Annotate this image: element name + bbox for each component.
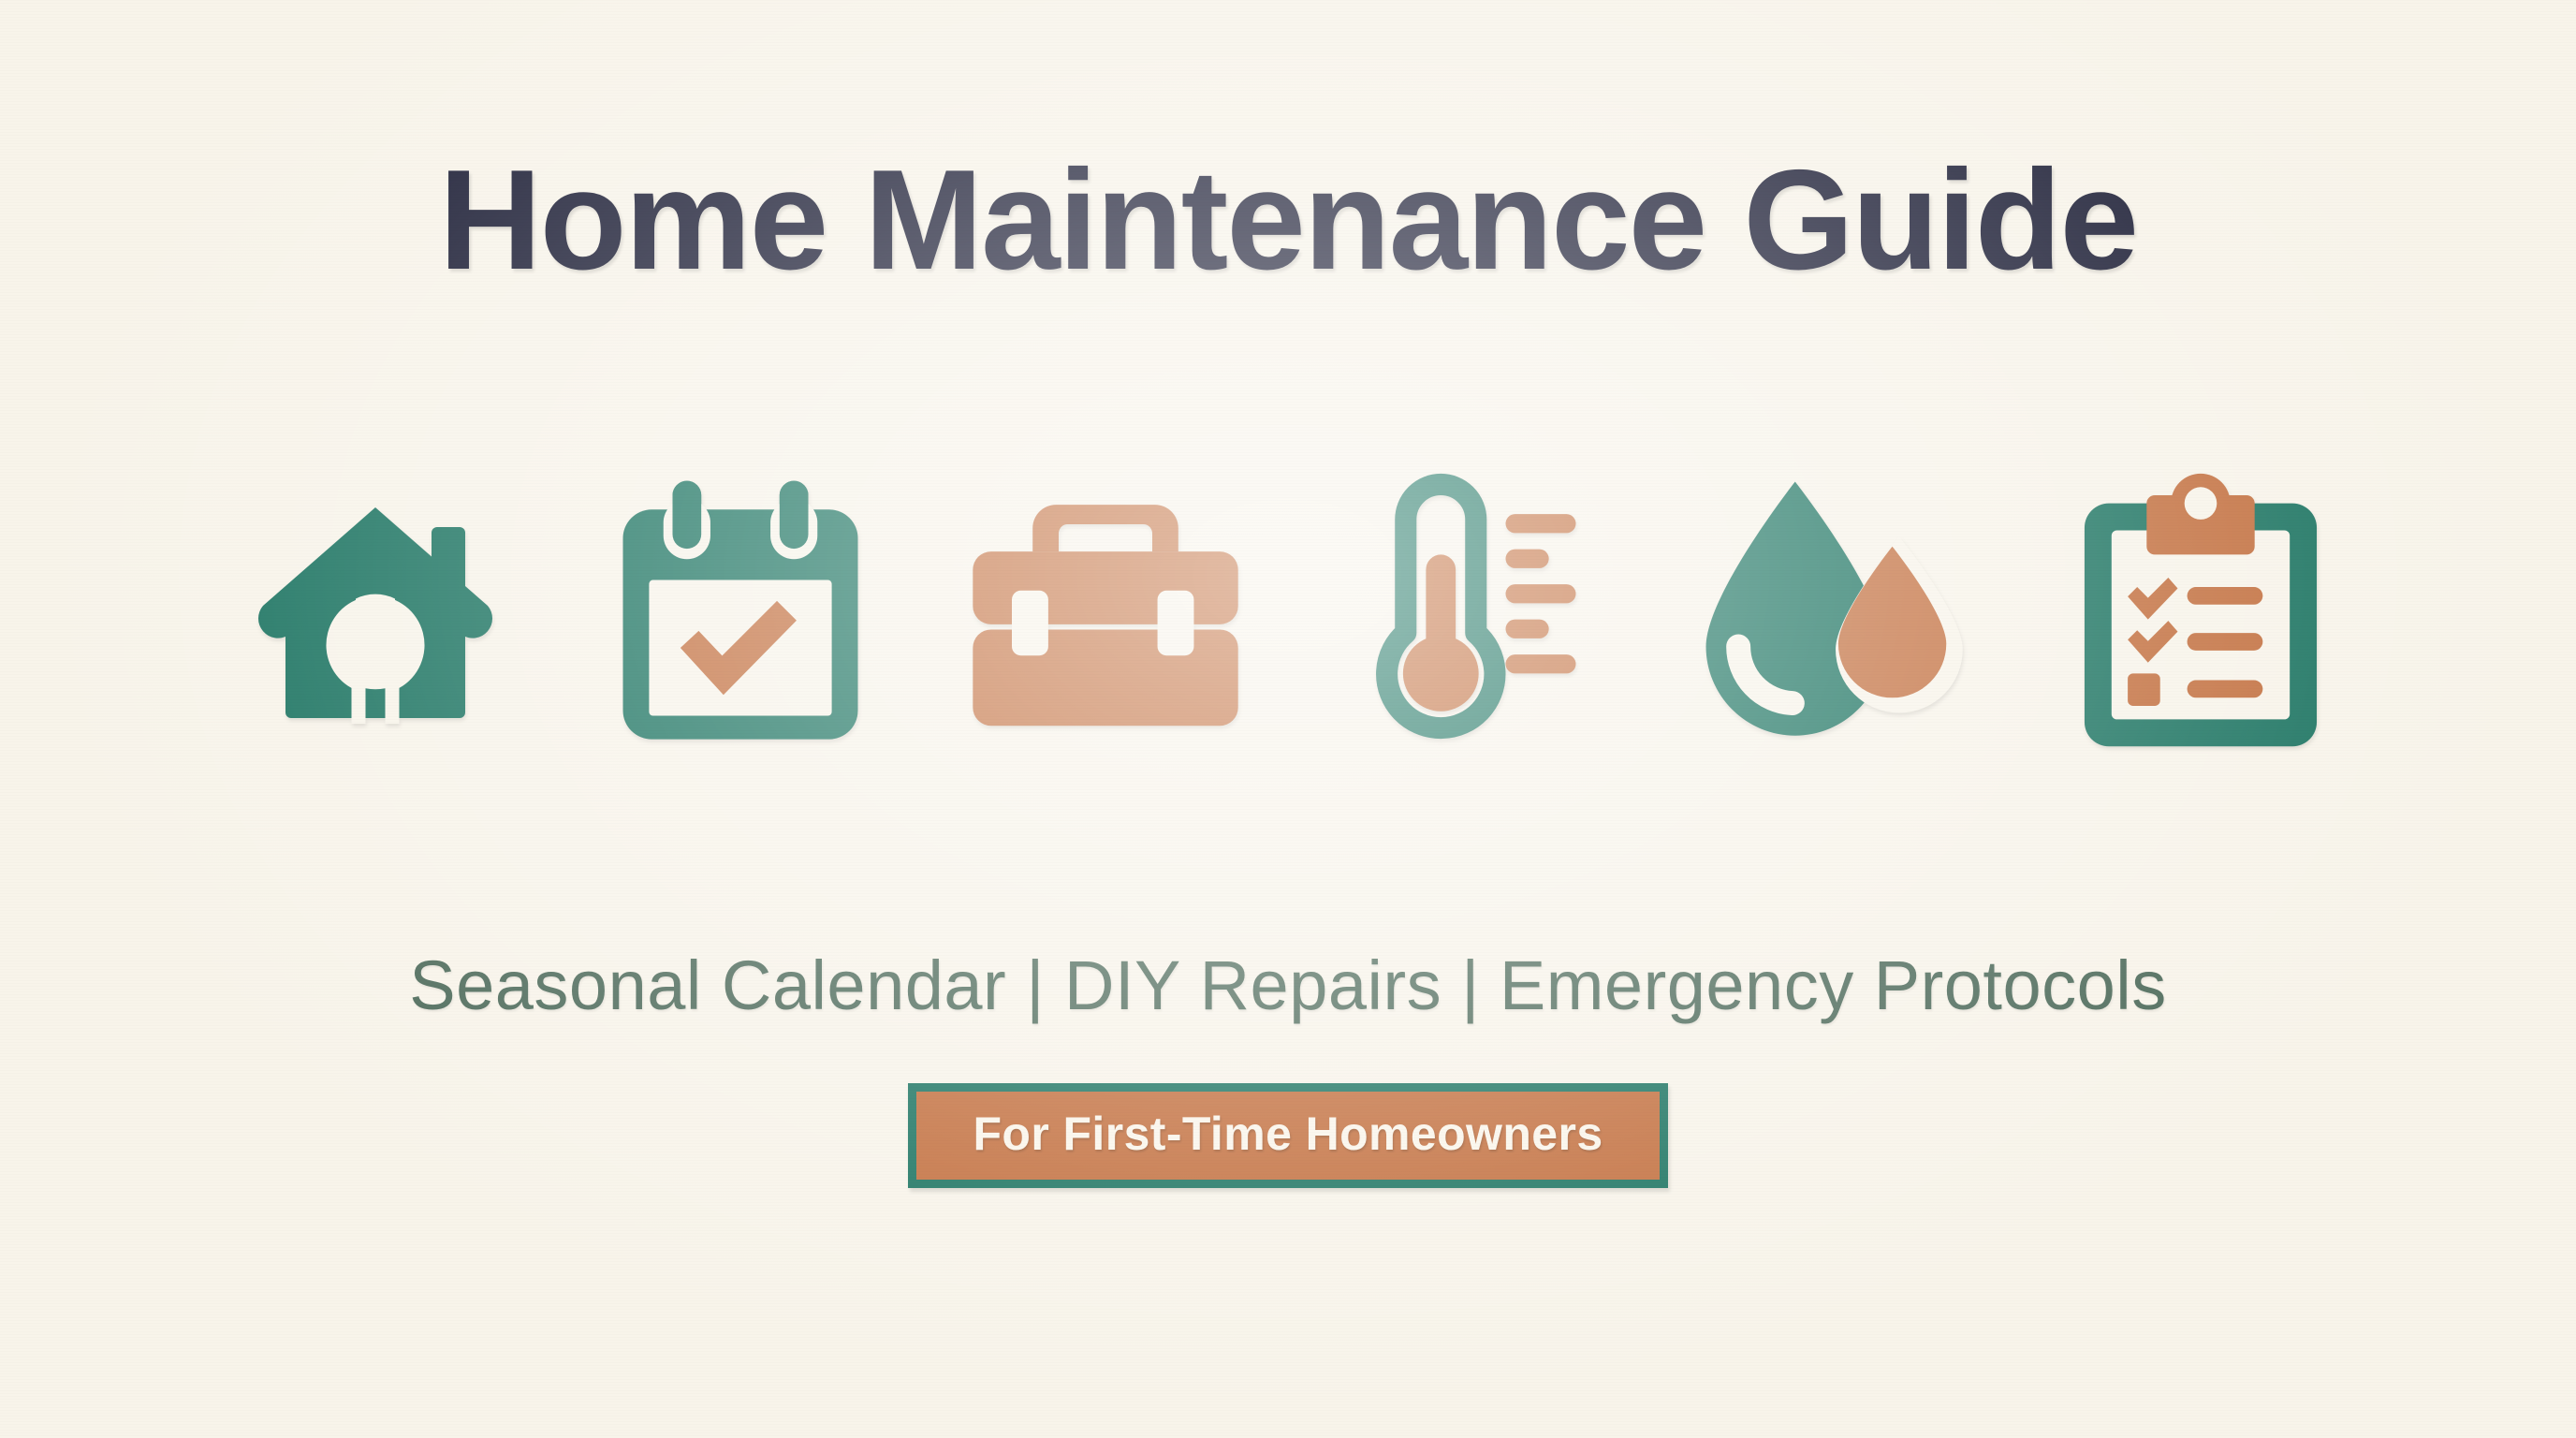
badge-container: For First-Time Homeowners (0, 1083, 2576, 1188)
water-droplet-icon (1681, 448, 1990, 775)
toolbox-icon (951, 448, 1260, 775)
poster-canvas: Home Maintenance Guide (0, 0, 2576, 1438)
calendar-check-icon (586, 448, 895, 775)
badge-label: For First-Time Homeowners (973, 1108, 1603, 1160)
clipboard-checklist-icon (2046, 448, 2355, 775)
audience-badge[interactable]: For First-Time Homeowners (908, 1083, 1668, 1188)
thermometer-icon (1316, 448, 1625, 775)
icon-row (183, 448, 2393, 775)
subtitle-text: Seasonal Calendar | DIY Repairs | Emerge… (409, 946, 2166, 1025)
page-title: Home Maintenance Guide (439, 146, 2137, 296)
house-wrench-icon (221, 448, 530, 775)
